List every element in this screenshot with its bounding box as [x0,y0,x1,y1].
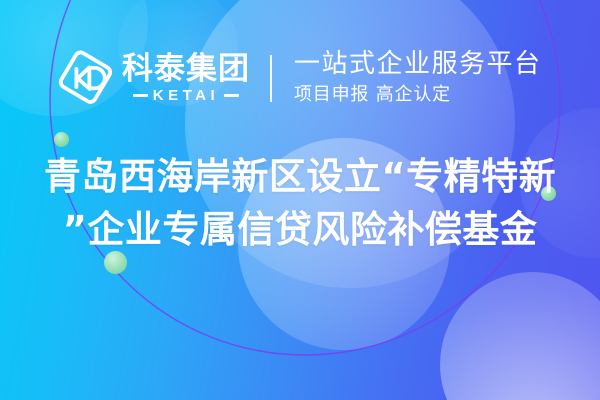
header-divider [270,55,272,102]
accent-dot-upper-left [54,132,69,147]
tagline-secondary: 项目申报 高企认定 [294,83,542,107]
tagline-primary: 一站式企业服务平台 [294,49,542,80]
banner-header: 科泰集团 KETAI 一站式企业服务平台 项目申报 高企认定 [0,42,600,114]
dash-left-icon [133,94,148,97]
headline: 青岛西海岸新区设立“专精特新 ”企业专属信贷风险补偿基金 [0,150,600,256]
ketai-diamond-kd-monogram-icon [56,49,114,107]
brand-name-en: KETAI [153,87,219,104]
brand-name-en-row: KETAI [133,87,239,104]
headline-line-1: 青岛西海岸新区设立“专精特新 [0,150,600,203]
headline-line-2: ”企业专属信贷风险补偿基金 [0,203,600,256]
brand-logo[interactable]: 科泰集团 KETAI [56,49,250,107]
brand-logo-wordmark: 科泰集团 KETAI [122,52,250,104]
brand-name-cn: 科泰集团 [122,52,250,86]
dash-right-icon [224,94,239,97]
brand-tagline: 一站式企业服务平台 项目申报 高企认定 [294,49,542,107]
promo-banner: 科泰集团 KETAI 一站式企业服务平台 项目申报 高企认定 青岛西海岸新区设立… [0,0,600,400]
